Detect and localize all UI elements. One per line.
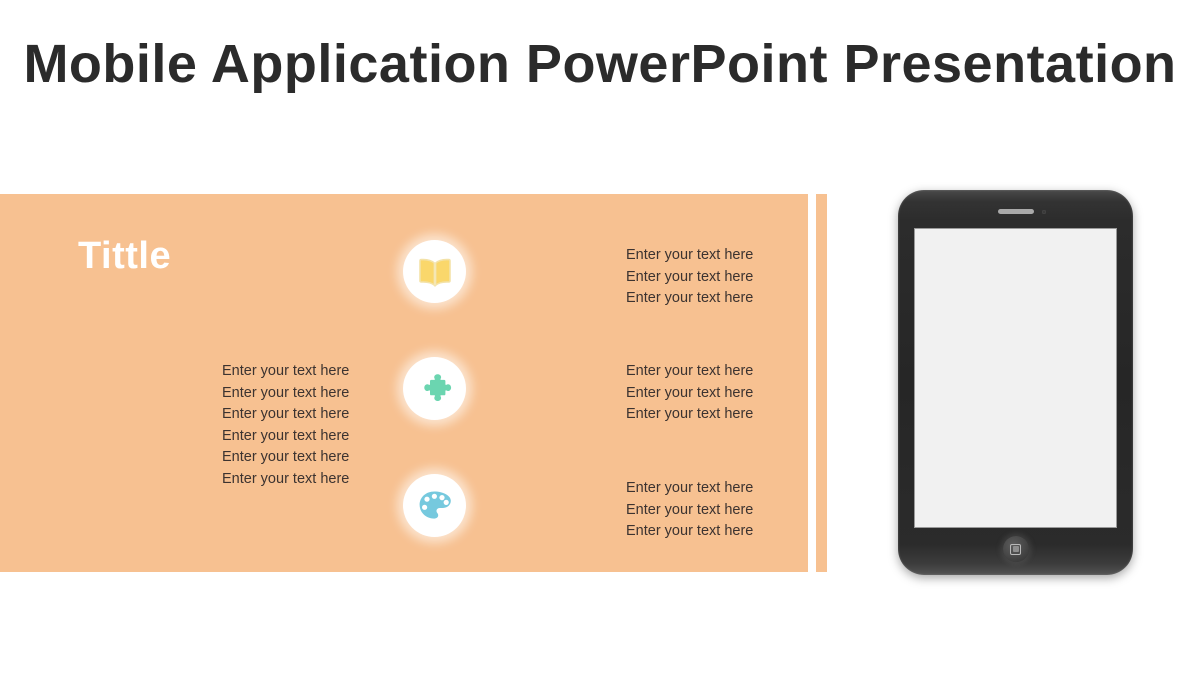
- tablet-mockup: [898, 190, 1133, 575]
- home-button[interactable]: [1003, 536, 1029, 562]
- text-line: Enter your text here: [626, 383, 753, 405]
- text-line: Enter your text here: [626, 267, 753, 289]
- text-line: Enter your text here: [222, 383, 349, 405]
- text-line: Enter your text here: [626, 478, 753, 500]
- slide-title: Mobile Application PowerPoint Presentati…: [0, 32, 1200, 96]
- text-line: Enter your text here: [626, 404, 753, 426]
- text-line: Enter your text here: [222, 426, 349, 448]
- speaker-grille-icon: [998, 209, 1034, 214]
- device-screen[interactable]: [914, 228, 1117, 528]
- text-block-right-middle: Enter your text here Enter your text her…: [626, 361, 753, 426]
- home-glyph-icon: [1010, 544, 1021, 555]
- icon-circle-book[interactable]: [403, 240, 466, 303]
- puzzle-icon: [418, 372, 452, 406]
- text-line: Enter your text here: [222, 469, 349, 491]
- text-line: Enter your text here: [626, 500, 753, 522]
- text-line: Enter your text here: [626, 361, 753, 383]
- text-block-right-top: Enter your text here Enter your text her…: [626, 245, 753, 310]
- front-camera-icon: [1042, 210, 1046, 214]
- panel-heading: Tittle: [78, 232, 171, 280]
- text-line: Enter your text here: [222, 447, 349, 469]
- text-line: Enter your text here: [626, 245, 753, 267]
- text-line: Enter your text here: [626, 521, 753, 543]
- text-block-left-middle: Enter your text here Enter your text her…: [222, 361, 349, 490]
- accent-stripe: [816, 194, 827, 572]
- palette-icon: [418, 490, 452, 521]
- text-block-right-bottom: Enter your text here Enter your text her…: [626, 478, 753, 543]
- text-line: Enter your text here: [626, 288, 753, 310]
- device-body: [898, 190, 1133, 575]
- book-icon: [418, 256, 452, 288]
- text-line: Enter your text here: [222, 404, 349, 426]
- text-line: Enter your text here: [222, 361, 349, 383]
- icon-circle-puzzle[interactable]: [403, 357, 466, 420]
- icon-circle-palette[interactable]: [403, 474, 466, 537]
